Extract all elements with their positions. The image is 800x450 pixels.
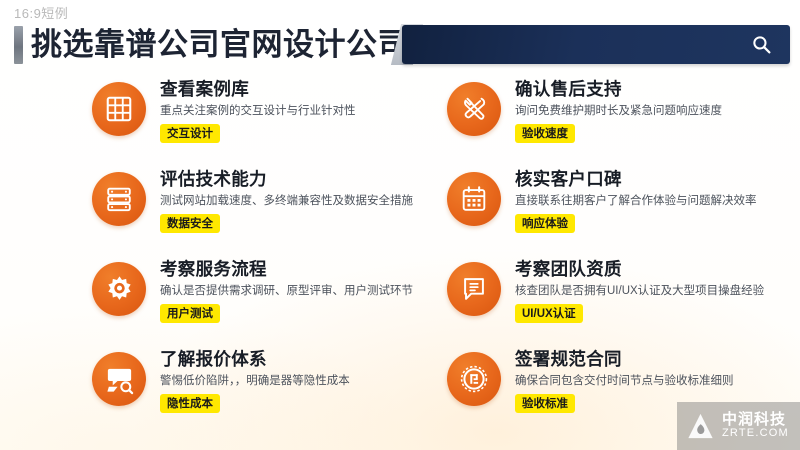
item-title: 查看案例库 — [160, 80, 356, 99]
stamp-icon — [447, 352, 501, 406]
list-item[interactable]: 考察团队资质 核查团队是否拥有UI/UX认证及大型项目操盘经验 UI/UX认证 — [413, 254, 800, 344]
slide-canvas: 16:9短例 挑选靠谱公司官网设计公司指南 — [0, 0, 800, 450]
item-description: 警惕低价陷阱，，明确是器等隐性成本 — [160, 374, 350, 388]
item-description: 询问免费维护期时长及紧急问题响应速度 — [515, 104, 722, 118]
item-description: 核查团队是否拥有UI/UX认证及大型项目操盘经验 — [515, 284, 764, 298]
item-description: 确认是否提供需求调研、原型评审、用户测试环节 — [160, 284, 413, 298]
item-title: 考察服务流程 — [160, 260, 413, 279]
checklist-grid: 查看案例库 重点关注案例的交互设计与行业针对性 交互设计 确认售后支持 询问免费… — [0, 74, 800, 434]
header-search-bar[interactable] — [402, 25, 790, 64]
list-item[interactable]: 确认售后支持 询问免费维护期时长及紧急问题响应速度 验收速度 — [413, 74, 800, 164]
grid-icon — [92, 82, 146, 136]
chat-search-icon — [92, 352, 146, 406]
item-tag: UI/UX认证 — [515, 304, 583, 323]
document-bubble-icon — [447, 262, 501, 316]
item-title: 评估技术能力 — [160, 170, 413, 189]
item-description: 直接联系往期客户了解合作体验与问题解决效率 — [515, 194, 757, 208]
item-tag: 用户测试 — [160, 304, 220, 323]
item-tag: 交互设计 — [160, 124, 220, 143]
item-description: 测试网站加载速度、多终端兼容性及数据安全措施 — [160, 194, 413, 208]
item-title: 核实客户口碑 — [515, 170, 757, 189]
list-item[interactable]: 了解报价体系 警惕低价陷阱，，明确是器等隐性成本 隐性成本 — [0, 344, 413, 434]
search-icon[interactable] — [751, 34, 772, 55]
item-title: 考察团队资质 — [515, 260, 764, 279]
item-tag: 响应体验 — [515, 214, 575, 233]
watermark-company-en: ZRTE.COM — [722, 428, 789, 440]
list-item[interactable]: 考察服务流程 确认是否提供需求调研、原型评审、用户测试环节 用户测试 — [0, 254, 413, 344]
item-title: 了解报价体系 — [160, 350, 350, 369]
server-icon — [92, 172, 146, 226]
item-title: 确认售后支持 — [515, 80, 722, 99]
tools-icon — [447, 82, 501, 136]
item-title: 签署规范合同 — [515, 350, 734, 369]
corner-caption: 16:9短例 — [14, 3, 68, 22]
item-tag: 隐性成本 — [160, 394, 220, 413]
item-description: 确保合同包含交付时间节点与验收标准细则 — [515, 374, 734, 388]
item-tag: 验收速度 — [515, 124, 575, 143]
item-tag: 数据安全 — [160, 214, 220, 233]
calendar-icon — [447, 172, 501, 226]
slide-header: 挑选靠谱公司官网设计公司指南 — [0, 22, 800, 68]
list-item[interactable]: 查看案例库 重点关注案例的交互设计与行业针对性 交互设计 — [0, 74, 413, 164]
title-accent-bar — [14, 26, 23, 64]
list-item[interactable]: 评估技术能力 测试网站加载速度、多终端兼容性及数据安全措施 数据安全 — [0, 164, 413, 254]
list-item[interactable]: 核实客户口碑 直接联系往期客户了解合作体验与问题解决效率 响应体验 — [413, 164, 800, 254]
gear-icon — [92, 262, 146, 316]
watermark-company-cn: 中润科技 — [722, 412, 789, 428]
item-description: 重点关注案例的交互设计与行业针对性 — [160, 104, 356, 118]
item-tag: 验收标准 — [515, 394, 575, 413]
flame-droplet-logo-icon — [685, 411, 716, 442]
watermark: 中润科技 ZRTE.COM — [677, 402, 800, 450]
